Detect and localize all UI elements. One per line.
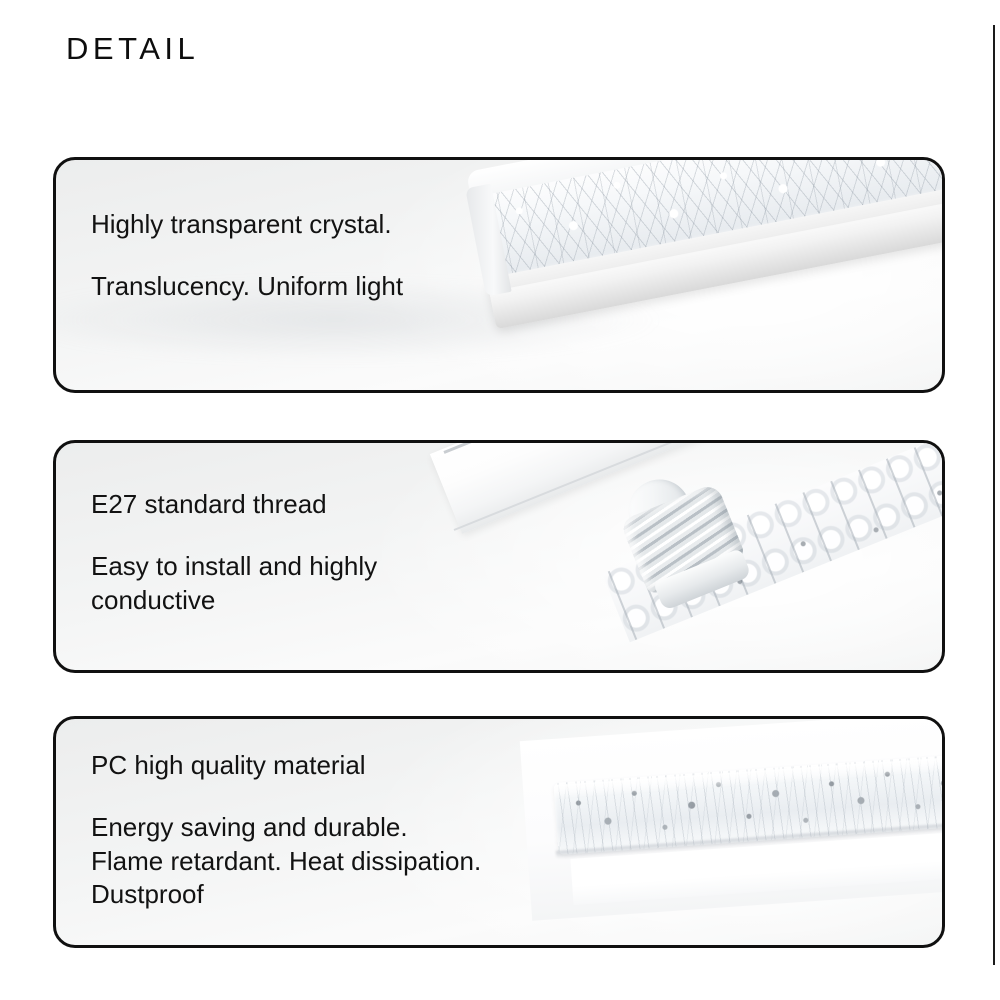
led-bar-top-face <box>466 157 945 198</box>
e27-thread-spiral <box>620 482 746 595</box>
page-right-rule <box>993 25 995 965</box>
card-3-line-1: Energy saving and durable. <box>91 811 481 845</box>
card-3-line-2: Flame retardant. Heat dissipation. <box>91 845 481 879</box>
tube-back-plate <box>520 719 945 921</box>
card-3-text: PC high quality material Energy saving a… <box>91 749 481 912</box>
tube-streak-texture <box>553 750 945 855</box>
crystal-bubble-tube <box>553 750 945 855</box>
tube-bubble-texture <box>553 750 945 855</box>
card-3-line-3: Dustproof <box>91 878 481 912</box>
led-bar-housing <box>487 175 945 329</box>
e27-screw-base <box>604 455 761 618</box>
e27-collar <box>653 548 751 611</box>
led-bar <box>466 157 945 393</box>
crystal-tooth-pattern <box>602 443 945 642</box>
led-bar-bevel <box>484 159 945 291</box>
led-bar-end-cap <box>465 184 512 297</box>
detail-card-crystal: Highly transparent crystal. Translucency… <box>53 157 945 393</box>
detail-card-pc-material: PC high quality material Energy saving a… <box>53 716 945 948</box>
tube-top-highlight <box>554 752 945 799</box>
crystal-tooth-strip <box>602 443 945 642</box>
detail-card-e27: E27 standard thread Easy to install and … <box>53 440 945 673</box>
lamp-plate-bottom-edge <box>454 443 945 531</box>
lamp-back-plate <box>430 443 945 534</box>
card-1-text: Highly transparent crystal. Translucency… <box>91 208 403 304</box>
card-2-heading: E27 standard thread <box>91 488 377 522</box>
card-1-subtext: Translucency. Uniform light <box>91 270 403 304</box>
led-bar-crystal-diffuser <box>469 157 945 278</box>
card-2-text: E27 standard thread Easy to install and … <box>91 488 377 617</box>
crystal-facet-pattern <box>469 157 945 278</box>
page-title: DETAIL <box>66 33 199 64</box>
crystal-dot-speckles <box>615 443 945 642</box>
card-2-line-1: Easy to install and highly <box>91 550 377 584</box>
crystal-sparkle-highlights <box>469 157 945 278</box>
tube-drop-shadow <box>556 818 945 859</box>
card-2-line-2: conductive <box>91 584 377 618</box>
card-3-heading: PC high quality material <box>91 749 481 783</box>
e27-contact-tip <box>619 470 693 534</box>
lamp-plate-top-edge <box>443 443 945 454</box>
detail-page: DETAIL Highly transparent crystal. Trans… <box>0 0 1000 1000</box>
card-1-heading: Highly transparent crystal. <box>91 208 403 242</box>
tube-white-base <box>570 828 945 905</box>
